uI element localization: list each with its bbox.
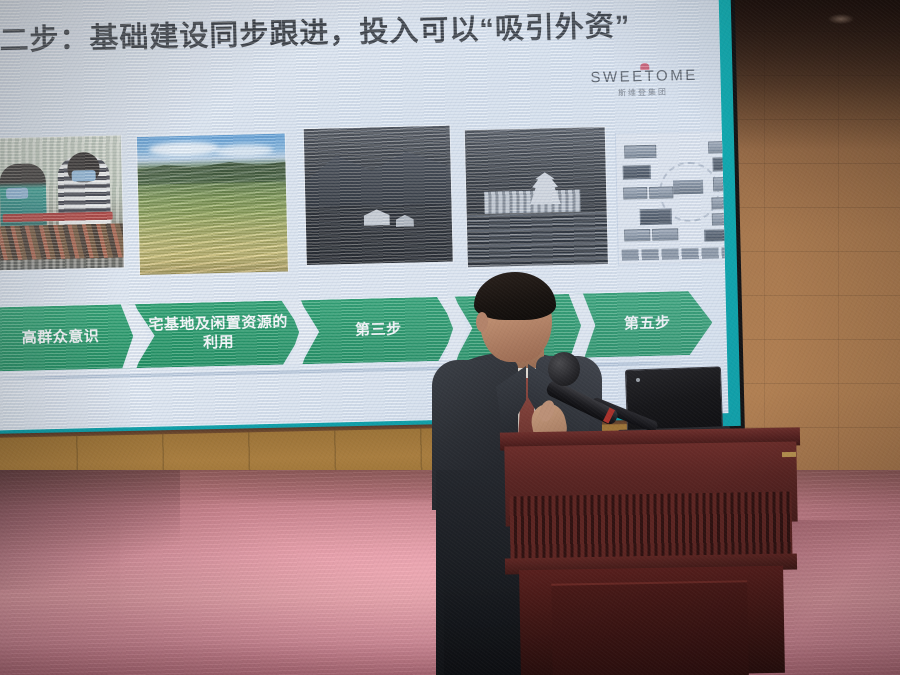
process-step-bar: 高群众意识 宅基地及闲置资源的利用 第三步 步 第五步 bbox=[0, 291, 711, 372]
slide-canvas: 二步：基础建设同步跟进，投入可以“吸引外资” SWEETOME 斯维登集团 bbox=[0, 0, 728, 431]
logo-subtext: 斯维登集团 bbox=[591, 86, 695, 99]
podium-front-panel bbox=[551, 580, 749, 675]
ceiling-light-icon bbox=[828, 14, 854, 24]
photo-waterfront-village bbox=[464, 126, 609, 268]
slide-title: 二步：基础建设同步跟进，投入可以“吸引外资” bbox=[0, 2, 660, 60]
logo-wordmark: SWEETOME bbox=[590, 67, 698, 87]
process-step-5: 第五步 bbox=[582, 291, 713, 358]
process-step-3: 第三步 bbox=[300, 297, 457, 365]
conference-stage-photo: 二步：基础建设同步跟进，投入可以“吸引外资” SWEETOME 斯维登集团 bbox=[0, 0, 900, 675]
photo-terraced-fields bbox=[136, 133, 289, 276]
presenter-ear bbox=[476, 312, 488, 332]
microphone-head-icon bbox=[548, 352, 580, 386]
process-step-5-label: 第五步 bbox=[616, 314, 679, 334]
brand-logo: SWEETOME 斯维登集团 bbox=[590, 67, 695, 99]
podium-gold-trim bbox=[782, 452, 796, 457]
process-step-1: 高群众意识 bbox=[0, 304, 137, 372]
slide-photo-strip bbox=[0, 117, 693, 283]
face-mask-icon bbox=[72, 170, 96, 182]
process-step-2: 宅基地及闲置资源的利用 bbox=[134, 300, 303, 368]
process-step-1-label: 高群众意识 bbox=[14, 327, 108, 348]
photo-strategy-diagram bbox=[615, 130, 729, 266]
process-step-3-label: 第三步 bbox=[347, 320, 410, 340]
floor-shadow-left bbox=[0, 470, 180, 590]
process-step-2-label: 宅基地及闲置资源的利用 bbox=[134, 313, 303, 354]
photo-market-workers bbox=[0, 134, 125, 271]
laptop-webcam-icon bbox=[636, 378, 640, 382]
photo-village-aerial bbox=[303, 125, 454, 266]
